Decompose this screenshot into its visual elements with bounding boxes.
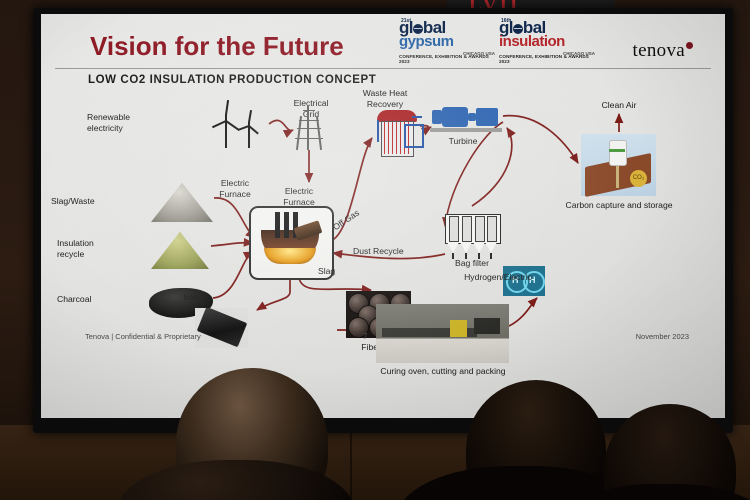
insulation-pile-icon <box>151 231 209 269</box>
tenova-wordmark: tenova <box>633 40 685 61</box>
globe-icon <box>513 24 523 34</box>
insulation-city: CHICAGO USA <box>563 51 595 56</box>
production-line-photo <box>376 304 509 363</box>
label-carbon-capture: Carbon capture and storage <box>557 200 681 211</box>
heat-recovery-boiler-icon <box>374 108 420 160</box>
label-electric-furnace: Electric Furnace <box>271 186 327 207</box>
label-slag-waste: Slag/Waste <box>51 196 95 207</box>
label-bag-filter: Bag filter <box>441 258 503 269</box>
tenova-dot-icon <box>686 42 693 49</box>
iron-ingot-image <box>195 308 248 348</box>
label-slag-edge: Slag <box>318 266 335 277</box>
label-dust-recycle: Dust Recycle <box>353 246 404 257</box>
gypsum-edition: 21st <box>401 18 411 24</box>
global-insulation-logo: 16th glbal insulation CHICAGO USA CONFER… <box>499 20 595 64</box>
label-renewable-electricity: Renewable electricity <box>87 112 130 133</box>
footer-confidentiality: Tenova | Confidential & Proprietary <box>85 332 201 341</box>
conference-room-photo: LVII Vision for the Future LOW CO2 INSUL… <box>0 0 750 500</box>
co2-badge: CO₂ <box>630 170 647 187</box>
global-gypsum-logo: 21st glbal gypsum CHICAGO USA CONFERENCE… <box>399 20 495 64</box>
insulation-word-insulation: insulation <box>499 35 595 49</box>
co2-storage-image: CO₂ <box>581 134 656 196</box>
power-pylon-icon <box>294 104 324 150</box>
wind-turbine-icon <box>215 102 267 148</box>
slide-subtitle: LOW CO2 INSULATION PRODUCTION CONCEPT <box>88 74 376 86</box>
presentation-slide: Vision for the Future LOW CO2 INSULATION… <box>41 14 725 418</box>
panel-seam <box>350 425 352 500</box>
title-divider <box>55 68 711 69</box>
baghouse-filter-icon <box>445 208 499 256</box>
slag-pile-icon <box>151 182 213 222</box>
steam-turbine-icon <box>430 104 502 132</box>
label-clean-air: Clean Air <box>589 100 649 111</box>
label-waste-heat-recovery: Waste Heat Recovery <box>349 88 421 109</box>
label-electric-furnace-left: Electric Furnace <box>207 178 263 199</box>
conference-logos: 21st glbal gypsum CHICAGO USA CONFERENCE… <box>399 16 599 66</box>
label-insulation-recycle: Insulation recycle <box>57 238 94 259</box>
label-iron: Iron <box>173 292 209 303</box>
label-curing-oven: Curing oven, cutting and packing <box>363 366 523 377</box>
tenova-logo: tenova <box>633 40 693 62</box>
label-hydrogen-electric: Hydrogen/Electric <box>445 272 551 283</box>
gypsum-city: CHICAGO USA <box>463 51 495 56</box>
process-flow-diagram: Renewable electricity Electrical Grid <box>41 86 725 386</box>
label-charcoal: Charcoal <box>57 294 91 305</box>
footer-page-number: 7 <box>363 332 367 341</box>
insulation-edition: 16th <box>501 18 511 24</box>
gypsum-word-gypsum: gypsum <box>399 35 495 49</box>
label-turbine: Turbine <box>433 136 493 147</box>
globe-icon <box>413 24 423 34</box>
footer-date: November 2023 <box>636 332 689 341</box>
page-title: Vision for the Future <box>90 31 344 62</box>
